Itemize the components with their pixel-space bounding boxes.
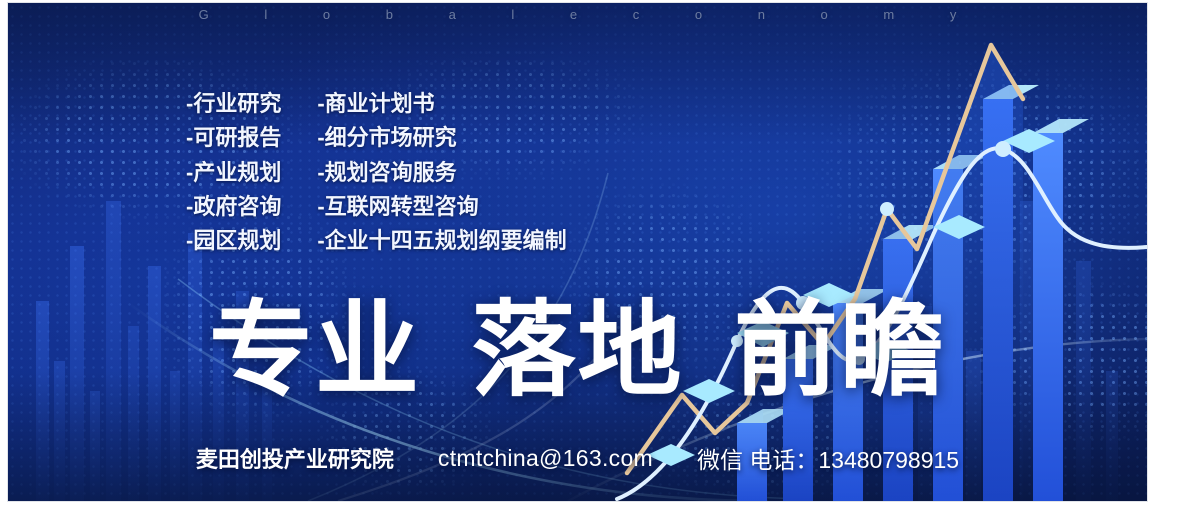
poster-artwork: G l o b a l e c o n o m y -行业研究 -可研报告 -产…: [8, 3, 1147, 501]
service-column-left: -行业研究 -可研报告 -产业规划 -政府咨询 -园区规划: [186, 89, 281, 257]
banner-frame: G l o b a l e c o n o m y -行业研究 -可研报告 -产…: [0, 0, 1177, 514]
service-lists: -行业研究 -可研报告 -产业规划 -政府咨询 -园区规划 -商业计划书 -细分…: [186, 89, 567, 257]
service-column-right: -商业计划书 -细分市场研究 -规划咨询服务 -互联网转型咨询 -企业十四五规划…: [317, 89, 566, 257]
service-item: -园区规划: [186, 226, 281, 256]
footer-contact-row: 麦田创投产业研究院 ctmtchina@163.com 微信 电话：134807…: [8, 441, 1147, 475]
gold-area-fill: [627, 45, 1023, 501]
vertical-bar-strips: [8, 3, 1147, 501]
dot-grid-background: [8, 3, 1147, 501]
page-title: 专业 落地 前瞻: [8, 299, 1147, 403]
service-item: -互联网转型咨询: [317, 192, 566, 222]
decorative-arc-lines: [8, 3, 1147, 501]
service-item: -行业研究: [186, 89, 281, 119]
email-address[interactable]: ctmtchina@163.com: [438, 445, 653, 472]
world-map-dot-texture: [8, 3, 1147, 501]
service-item: -可研报告: [186, 123, 281, 153]
headline-word-2: 落地: [471, 299, 683, 403]
service-item: -规划咨询服务: [317, 158, 566, 188]
organization-name: 麦田创投产业研究院: [196, 442, 394, 474]
service-item: -企业十四五规划纲要编制: [317, 226, 566, 256]
service-item: -政府咨询: [186, 192, 281, 222]
headline-word-1: 专业: [209, 299, 421, 403]
service-item: -细分市场研究: [317, 123, 566, 153]
contact-phone[interactable]: 微信 电话：13480798915: [697, 441, 959, 475]
growth-chart-illustration: [587, 3, 1147, 501]
kicker-global-economy: G l o b a l e c o n o m y: [8, 7, 1147, 22]
service-item: -商业计划书: [317, 89, 566, 119]
headline-word-3: 前瞻: [734, 299, 946, 403]
service-item: -产业规划: [186, 158, 281, 188]
